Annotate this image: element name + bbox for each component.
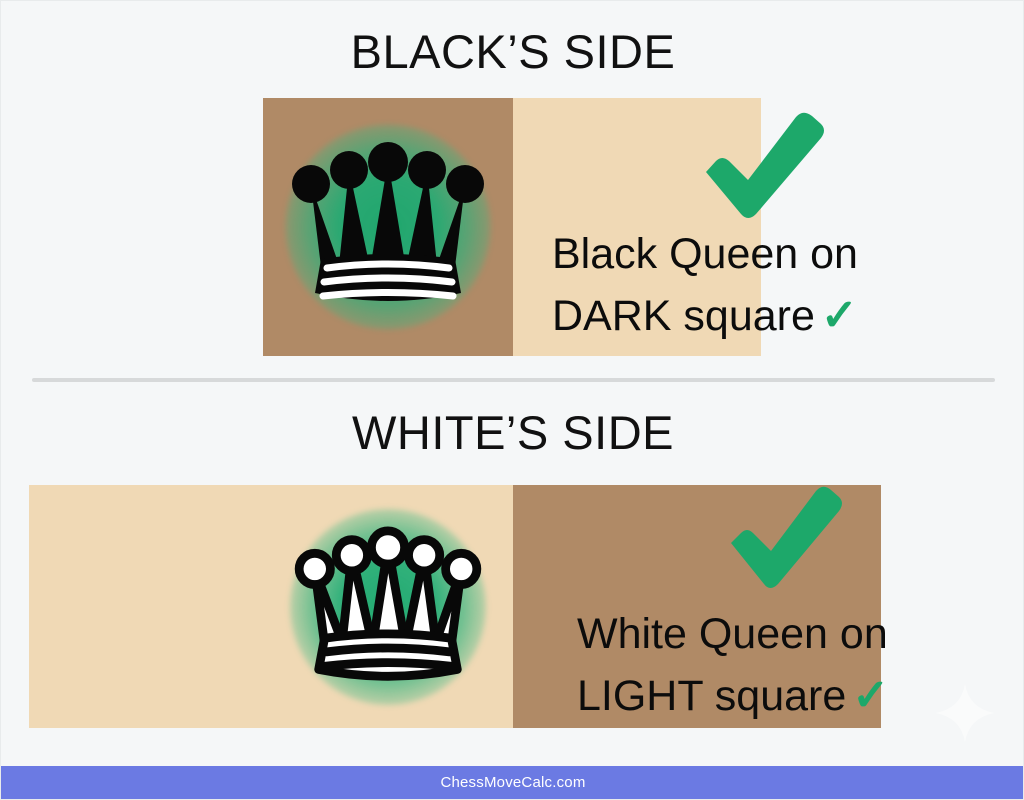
board-square-dark xyxy=(263,98,513,356)
black-queen-icon xyxy=(283,137,493,317)
footer-bar: ChessMoveCalc.com xyxy=(1,766,1024,799)
board-square-light xyxy=(29,485,263,728)
section-divider xyxy=(32,378,995,382)
caption-line-2-text: LIGHT square xyxy=(577,672,846,720)
section-title-black: BLACK’S SIDE xyxy=(1,24,1024,79)
caption-line-1: White Queen on xyxy=(577,603,889,665)
infographic-page: BLACK’S SIDE xyxy=(0,0,1024,800)
caption-black: Black Queen on DARK square✓ xyxy=(552,223,858,347)
check-mark-icon: ✓ xyxy=(815,291,858,340)
board-square-light xyxy=(263,485,513,728)
section-title-white: WHITE’S SIDE xyxy=(1,405,1024,460)
caption-white: White Queen on LIGHT square✓ xyxy=(577,603,889,727)
check-mark-icon: ✓ xyxy=(846,671,889,720)
caption-line-1: Black Queen on xyxy=(552,223,858,285)
sparkle-icon xyxy=(936,684,994,742)
caption-line-2: LIGHT square✓ xyxy=(577,665,889,727)
white-queen-icon xyxy=(286,518,491,696)
caption-line-2: DARK square✓ xyxy=(552,285,858,347)
footer-site-name: ChessMoveCalc.com xyxy=(440,774,585,791)
caption-line-2-text: DARK square xyxy=(552,292,815,340)
